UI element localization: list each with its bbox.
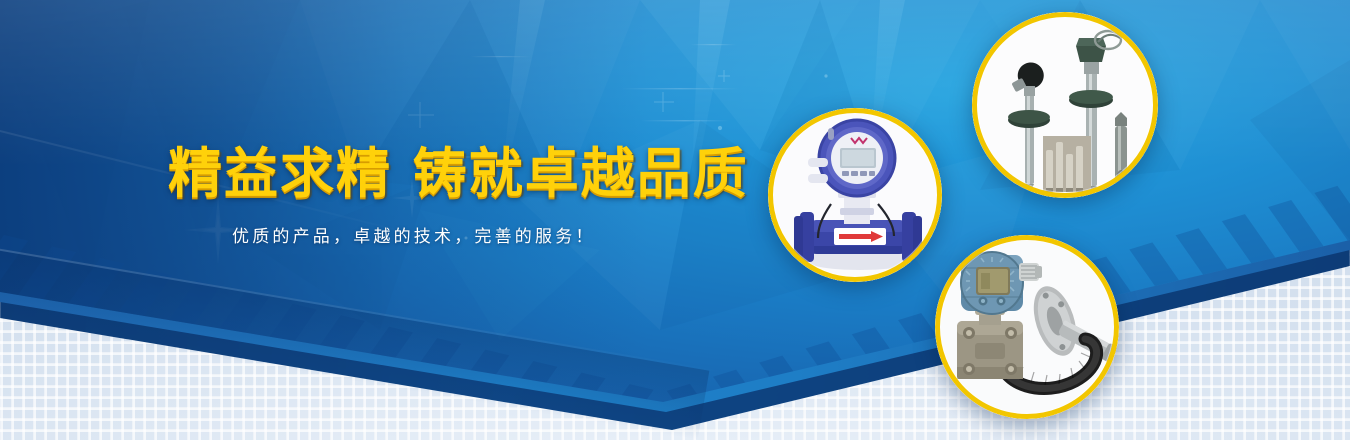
- page-title: 精益求精 铸就卓越品质: [168, 145, 749, 203]
- product-circle-flowmeter[interactable]: [768, 108, 942, 282]
- promo-banner: 精益求精 铸就卓越品质 优质的产品，卓越的技术，完善的服务！: [0, 0, 1350, 440]
- page-subtitle: 优质的产品，卓越的技术，完善的服务！: [232, 222, 596, 247]
- flowmeter-icon: [768, 108, 942, 282]
- product-circle-temperature[interactable]: [972, 12, 1158, 198]
- thermocouple-icon: [972, 12, 1158, 198]
- pressure-transmitter-icon: [935, 235, 1119, 419]
- product-circle-pressure[interactable]: [935, 235, 1119, 419]
